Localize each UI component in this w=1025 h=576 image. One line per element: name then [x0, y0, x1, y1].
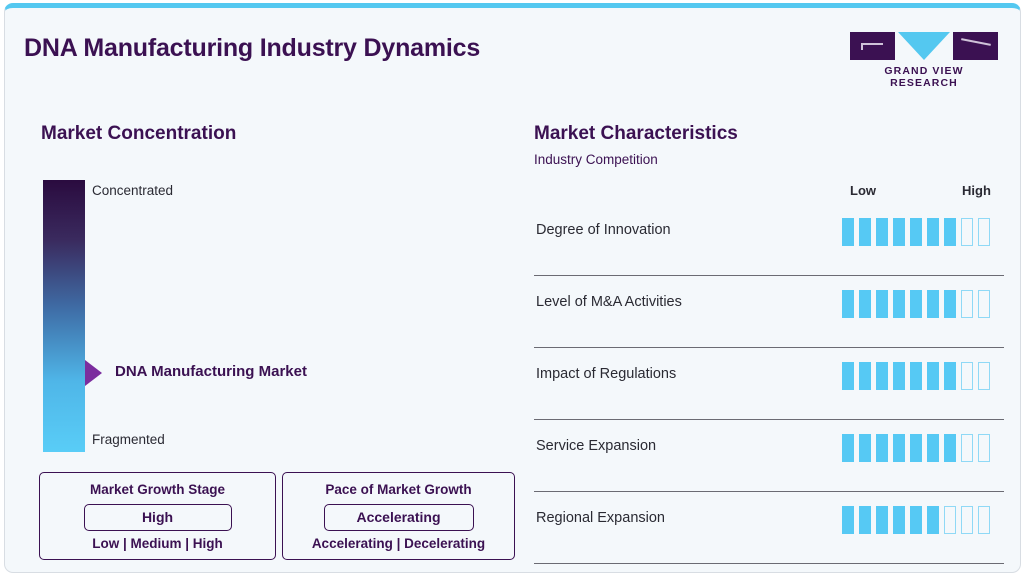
market-growth-stage-value-box: High	[84, 504, 232, 531]
characteristic-label: Impact of Regulations	[536, 366, 676, 382]
characteristic-meter	[842, 290, 990, 318]
meter-tick-empty	[978, 218, 990, 246]
meter-tick-filled	[876, 506, 888, 534]
market-growth-stage-options: Low | Medium | High	[50, 536, 265, 551]
characteristic-meter	[842, 218, 990, 246]
meter-tick-filled	[876, 434, 888, 462]
characteristic-label: Regional Expansion	[536, 510, 665, 526]
characteristic-row: Degree of Innovation	[534, 204, 1004, 276]
meter-tick-filled	[893, 218, 905, 246]
meter-tick-empty	[978, 506, 990, 534]
meter-tick-empty	[961, 290, 973, 318]
meter-tick-filled	[842, 218, 854, 246]
meter-tick-filled	[927, 506, 939, 534]
meter-tick-filled	[893, 434, 905, 462]
meter-tick-filled	[910, 290, 922, 318]
pace-of-market-growth-value: Accelerating	[325, 509, 473, 525]
meter-tick-filled	[910, 434, 922, 462]
meter-tick-filled	[842, 290, 854, 318]
meter-tick-filled	[927, 290, 939, 318]
characteristic-label: Service Expansion	[536, 438, 656, 454]
meter-tick-empty	[978, 290, 990, 318]
meter-tick-empty	[961, 218, 973, 246]
meter-tick-empty	[961, 434, 973, 462]
meter-tick-filled	[842, 506, 854, 534]
pace-of-market-growth-box[interactable]: Pace of Market Growth Accelerating Accel…	[282, 472, 515, 560]
meter-tick-empty	[978, 362, 990, 390]
market-characteristics-panel: Market Characteristics Industry Competit…	[520, 8, 1021, 572]
market-growth-stage-value: High	[85, 509, 231, 525]
meter-tick-empty	[944, 506, 956, 534]
meter-tick-empty	[961, 506, 973, 534]
meter-tick-filled	[927, 218, 939, 246]
market-position-label: DNA Manufacturing Market	[115, 363, 307, 380]
meter-tick-filled	[927, 362, 939, 390]
axis-label-high: High	[962, 183, 991, 198]
meter-tick-filled	[893, 506, 905, 534]
pace-of-market-growth-options: Accelerating | Decelerating	[293, 536, 504, 551]
meter-tick-filled	[859, 506, 871, 534]
meter-tick-filled	[910, 362, 922, 390]
meter-tick-filled	[876, 362, 888, 390]
characteristic-row: Service Expansion	[534, 420, 1004, 492]
meter-tick-filled	[859, 290, 871, 318]
infographic-card: DNA Manufacturing Industry Dynamics GRAN…	[4, 3, 1021, 573]
characteristic-label: Level of M&A Activities	[536, 294, 682, 310]
characteristic-label: Degree of Innovation	[536, 222, 671, 238]
meter-tick-filled	[893, 290, 905, 318]
market-characteristics-subtitle: Industry Competition	[534, 152, 658, 167]
market-growth-stage-box[interactable]: Market Growth Stage High Low | Medium | …	[39, 472, 276, 560]
meter-tick-filled	[842, 434, 854, 462]
market-concentration-panel: Market Concentration Concentrated Fragme…	[5, 8, 520, 572]
characteristic-row: Regional Expansion	[534, 492, 1004, 564]
market-characteristics-heading: Market Characteristics	[534, 123, 738, 145]
meter-tick-filled	[927, 434, 939, 462]
meter-tick-filled	[876, 218, 888, 246]
meter-tick-filled	[910, 218, 922, 246]
meter-tick-filled	[842, 362, 854, 390]
characteristic-meter	[842, 362, 990, 390]
market-growth-stage-title: Market Growth Stage	[50, 482, 265, 498]
meter-tick-filled	[944, 362, 956, 390]
characteristics-list: Degree of InnovationLevel of M&A Activit…	[534, 204, 1004, 564]
characteristic-meter	[842, 434, 990, 462]
characteristic-row: Impact of Regulations	[534, 348, 1004, 420]
meter-tick-filled	[859, 362, 871, 390]
meter-tick-filled	[876, 290, 888, 318]
meter-tick-empty	[978, 434, 990, 462]
meter-tick-filled	[910, 506, 922, 534]
meter-tick-filled	[859, 218, 871, 246]
pace-of-market-growth-title: Pace of Market Growth	[293, 482, 504, 498]
scale-label-fragmented: Fragmented	[92, 432, 165, 447]
meter-tick-filled	[944, 434, 956, 462]
axis-label-low: Low	[850, 183, 876, 198]
characteristic-meter	[842, 506, 990, 534]
concentration-gradient-bar	[43, 180, 85, 452]
market-concentration-heading: Market Concentration	[41, 123, 236, 145]
characteristic-row: Level of M&A Activities	[534, 276, 1004, 348]
market-position-arrow-icon	[85, 360, 102, 386]
pace-of-market-growth-value-box: Accelerating	[324, 504, 474, 531]
meter-tick-filled	[944, 218, 956, 246]
meter-tick-empty	[961, 362, 973, 390]
meter-tick-filled	[893, 362, 905, 390]
meter-tick-filled	[859, 434, 871, 462]
scale-label-concentrated: Concentrated	[92, 183, 173, 198]
meter-tick-filled	[944, 290, 956, 318]
